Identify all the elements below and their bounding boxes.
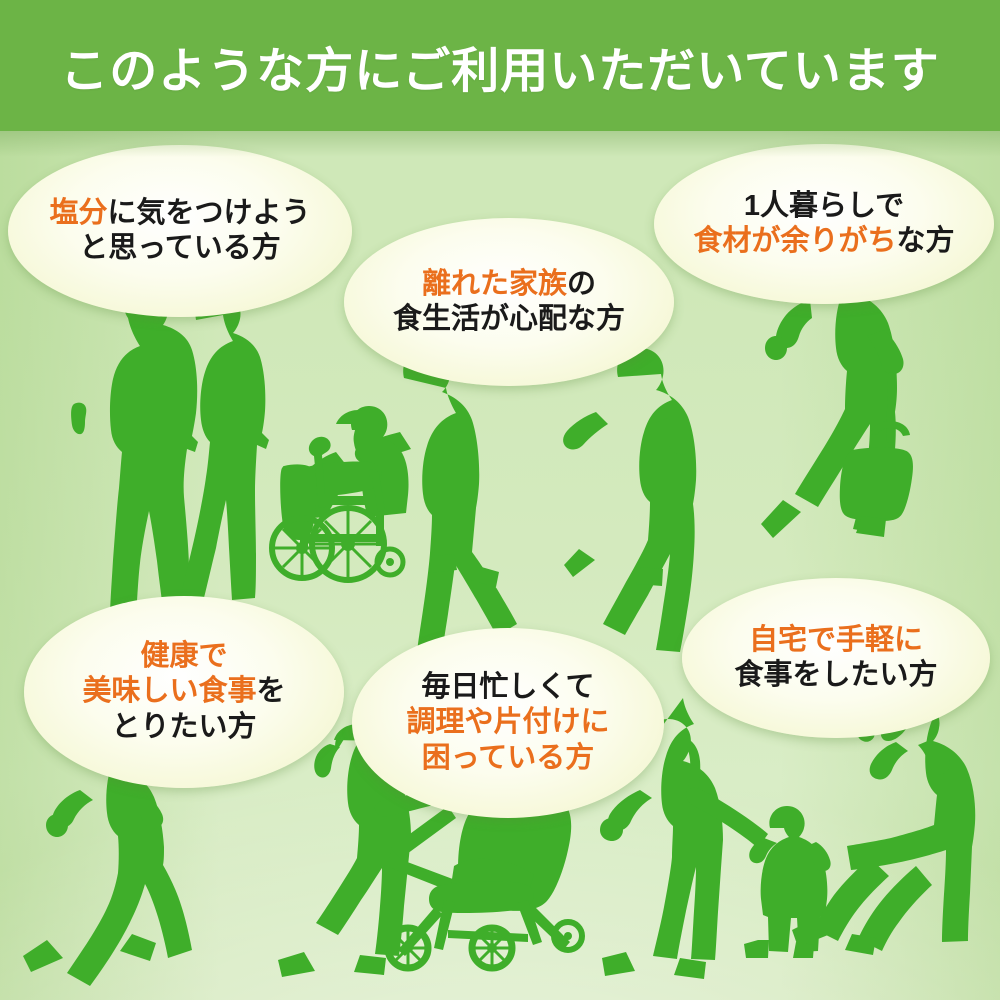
normal-text: 食生活が心配な方 bbox=[393, 303, 625, 335]
bubble-text-line: 困っている方 bbox=[406, 741, 609, 776]
normal-text: に気をつけよう bbox=[108, 197, 311, 229]
poster-root: このような方にご利用いただいています bbox=[0, 0, 1000, 1000]
bubble-home: 自宅で手軽に食事をしたい方 bbox=[682, 578, 990, 738]
walking-woman-silhouette bbox=[563, 348, 696, 652]
bubble-text-line: 1人暮らしで bbox=[693, 189, 954, 224]
bubble-family: 離れた家族の食生活が心配な方 bbox=[344, 218, 674, 386]
bubble-text-line: と思っている方 bbox=[49, 231, 310, 266]
bubble-text-line: 塩分に気をつけよう bbox=[49, 196, 310, 231]
normal-text: とりたい方 bbox=[111, 711, 256, 743]
normal-text: 毎日忙しくて bbox=[421, 671, 594, 703]
bubble-text-line: 食事をしたい方 bbox=[734, 658, 937, 693]
highlight-text: 困っている方 bbox=[422, 742, 595, 774]
normal-text: な方 bbox=[897, 225, 955, 257]
standing-couple-silhouette bbox=[71, 286, 269, 618]
highlight-text: 食材が余りがち bbox=[693, 225, 896, 257]
bubble-healthy-text: 健康で美味しい食事をとりたい方 bbox=[68, 639, 299, 745]
bubble-salt-text: 塩分に気をつけようと思っている方 bbox=[35, 196, 324, 267]
bubble-salt: 塩分に気をつけようと思っている方 bbox=[8, 145, 352, 317]
bubble-healthy: 健康で美味しい食事をとりたい方 bbox=[24, 596, 344, 788]
bubble-busy-text: 毎日忙しくて調理や片付けに困っている方 bbox=[392, 670, 623, 776]
normal-text: 食事をしたい方 bbox=[734, 659, 937, 691]
bubble-busy: 毎日忙しくて調理や片付けに困っている方 bbox=[352, 628, 664, 818]
bubble-family-text: 離れた家族の食生活が心配な方 bbox=[379, 267, 639, 338]
bubble-text-line: とりたい方 bbox=[82, 710, 285, 745]
highlight-text: 離れた家族 bbox=[422, 268, 567, 300]
normal-text: の bbox=[567, 268, 596, 300]
bubble-single: 1人暮らしで食材が余りがちな方 bbox=[654, 144, 994, 304]
bubble-text-line: 離れた家族の bbox=[393, 267, 625, 302]
bubble-text-line: 食生活が心配な方 bbox=[393, 302, 625, 337]
highlight-text: 健康で bbox=[140, 640, 227, 672]
page-title: このような方にご利用いただいています bbox=[60, 31, 940, 101]
normal-text: を bbox=[257, 675, 286, 707]
bubble-text-line: 自宅で手軽に bbox=[734, 623, 937, 658]
bubble-text-line: 調理や片付けに bbox=[406, 705, 609, 740]
highlight-text: 塩分 bbox=[49, 197, 107, 229]
bubble-home-text: 自宅で手軽に食事をしたい方 bbox=[720, 623, 951, 694]
bubble-text-line: 毎日忙しくて bbox=[406, 670, 609, 705]
bubble-text-line: 美味しい食事を bbox=[82, 674, 285, 709]
highlight-text: 自宅で手軽に bbox=[749, 624, 923, 656]
header-shadow bbox=[0, 131, 1000, 157]
bubble-text-line: 食材が余りがちな方 bbox=[693, 224, 954, 259]
highlight-text: 美味しい食事 bbox=[82, 675, 256, 707]
highlight-text: 調理や片付けに bbox=[406, 706, 609, 738]
bubble-single-text: 1人暮らしで食材が余りがちな方 bbox=[679, 189, 968, 260]
header-band: このような方にご利用いただいています bbox=[0, 0, 1000, 131]
normal-text: 1人暮らしで bbox=[744, 190, 904, 222]
normal-text: と思っている方 bbox=[79, 232, 281, 264]
bubble-text-line: 健康で bbox=[82, 639, 285, 674]
wheelchair-caregiver-silhouette bbox=[272, 347, 517, 654]
